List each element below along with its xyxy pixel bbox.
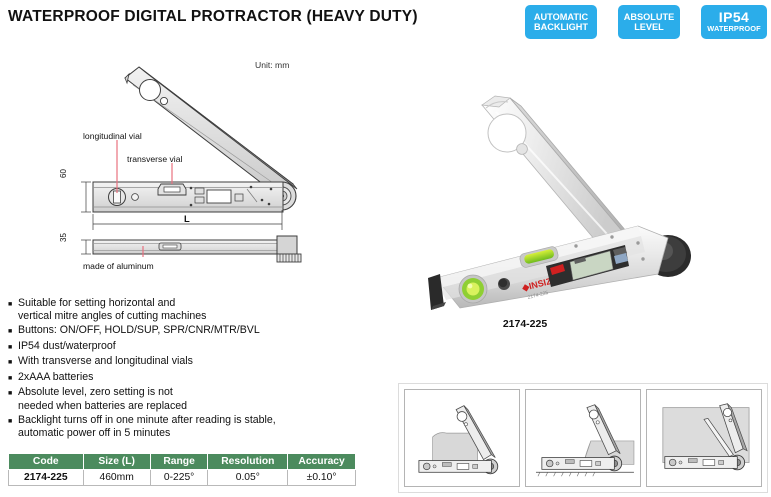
feature-text: Absolute level, zero setting is not need… <box>18 386 187 413</box>
feature-text: Backlight turns off in one minute after … <box>18 414 276 441</box>
bullet-icon: ■ <box>8 355 18 370</box>
badge-line-2: LEVEL <box>634 22 664 32</box>
application-panel-2 <box>525 389 641 487</box>
badge-line-2: WATERPROOF <box>707 25 760 33</box>
badge-ip54-waterproof: IP54 WATERPROOF <box>701 5 767 39</box>
product-caption: 2174-225 <box>400 318 650 330</box>
bullet-icon: ■ <box>8 324 18 339</box>
bullet-icon: ■ <box>8 414 18 429</box>
application-panel-3 <box>646 389 762 487</box>
cell-size: 460mm <box>83 470 150 486</box>
badge-line-2: BACKLIGHT <box>534 22 588 32</box>
application-panels <box>398 383 768 493</box>
list-item: ■ IP54 dust/waterproof <box>8 340 378 355</box>
cell-accuracy: ±0.10° <box>288 470 356 486</box>
bullet-icon: ■ <box>8 297 18 312</box>
column-header-code: Code <box>9 454 84 470</box>
column-header-size: Size (L) <box>83 454 150 470</box>
feature-text: Buttons: ON/OFF, HOLD/SUP, SPR/CNR/MTR/B… <box>18 324 260 337</box>
application-illustration-3 <box>647 390 761 486</box>
badge-line-1: IP54 <box>719 10 749 24</box>
page-title: WATERPROOF DIGITAL PROTRACTOR (HEAVY DUT… <box>8 8 418 26</box>
callout-transverse-vial: transverse vial <box>127 154 182 164</box>
list-item: ■ 2xAAA batteries <box>8 371 378 386</box>
cell-range: 0-225° <box>150 470 208 486</box>
table-row: 2174-225 460mm 0-225° 0.05° ±0.10° <box>9 470 356 486</box>
cell-resolution: 0.05° <box>208 470 288 486</box>
product-base-body: ◆INSIZE◆ 2174-225 <box>428 226 668 310</box>
feature-text: With transverse and longitudinal vials <box>18 355 193 368</box>
application-illustration-1 <box>405 390 519 486</box>
feature-list: ■ Suitable for setting horizontal and ve… <box>8 297 378 441</box>
column-header-resolution: Resolution <box>208 454 288 470</box>
drawing-main-body <box>93 182 283 212</box>
technical-drawing: Unit: mm longitudinal vial transverse vi… <box>55 52 395 277</box>
bullet-icon: ■ <box>8 371 18 386</box>
application-illustration-2 <box>526 390 640 486</box>
callout-made-of-aluminum: made of aluminum <box>83 261 154 271</box>
badge-line-1: ABSOLUTE <box>624 12 675 22</box>
column-header-range: Range <box>150 454 208 470</box>
drawing-side-view <box>93 236 301 262</box>
specification-table: Code Size (L) Range Resolution Accuracy … <box>8 453 356 486</box>
product-photo: ◆INSIZE◆ 2174-225 37.6 <box>400 60 771 315</box>
drawing-upper-arm <box>125 67 297 198</box>
badge-line-1: AUTOMATIC <box>534 12 588 22</box>
list-item: ■ With transverse and longitudinal vials <box>8 355 378 370</box>
dimension-thickness: 35 <box>59 233 68 242</box>
list-item: ■ Absolute level, zero setting is not ne… <box>8 386 378 413</box>
application-panel-1 <box>404 389 520 487</box>
dimension-height: 60 <box>59 169 68 178</box>
product-photo-svg: ◆INSIZE◆ 2174-225 <box>400 60 771 315</box>
feature-text: Suitable for setting horizontal and vert… <box>18 297 206 324</box>
feature-text: 2xAAA batteries <box>18 371 93 384</box>
dimension-length: L <box>184 213 190 224</box>
feature-text: IP54 dust/waterproof <box>18 340 116 353</box>
cell-code: 2174-225 <box>9 470 84 486</box>
badge-absolute-level: ABSOLUTE LEVEL <box>618 5 680 39</box>
feature-badge-row: AUTOMATIC BACKLIGHT ABSOLUTE LEVEL IP54 … <box>525 5 767 41</box>
technical-drawing-svg <box>55 52 395 277</box>
bullseye-vial <box>459 275 487 303</box>
bullet-icon: ■ <box>8 386 18 401</box>
column-header-accuracy: Accuracy <box>288 454 356 470</box>
table-header-row: Code Size (L) Range Resolution Accuracy <box>9 454 356 470</box>
callout-longitudinal-vial: longitudinal vial <box>83 131 142 141</box>
list-item: ■ Backlight turns off in one minute afte… <box>8 414 378 441</box>
list-item: ■ Suitable for setting horizontal and ve… <box>8 297 378 324</box>
bullet-icon: ■ <box>8 340 18 355</box>
badge-automatic-backlight: AUTOMATIC BACKLIGHT <box>525 5 597 39</box>
list-item: ■ Buttons: ON/OFF, HOLD/SUP, SPR/CNR/MTR… <box>8 324 378 339</box>
unit-label: Unit: mm <box>255 60 289 70</box>
